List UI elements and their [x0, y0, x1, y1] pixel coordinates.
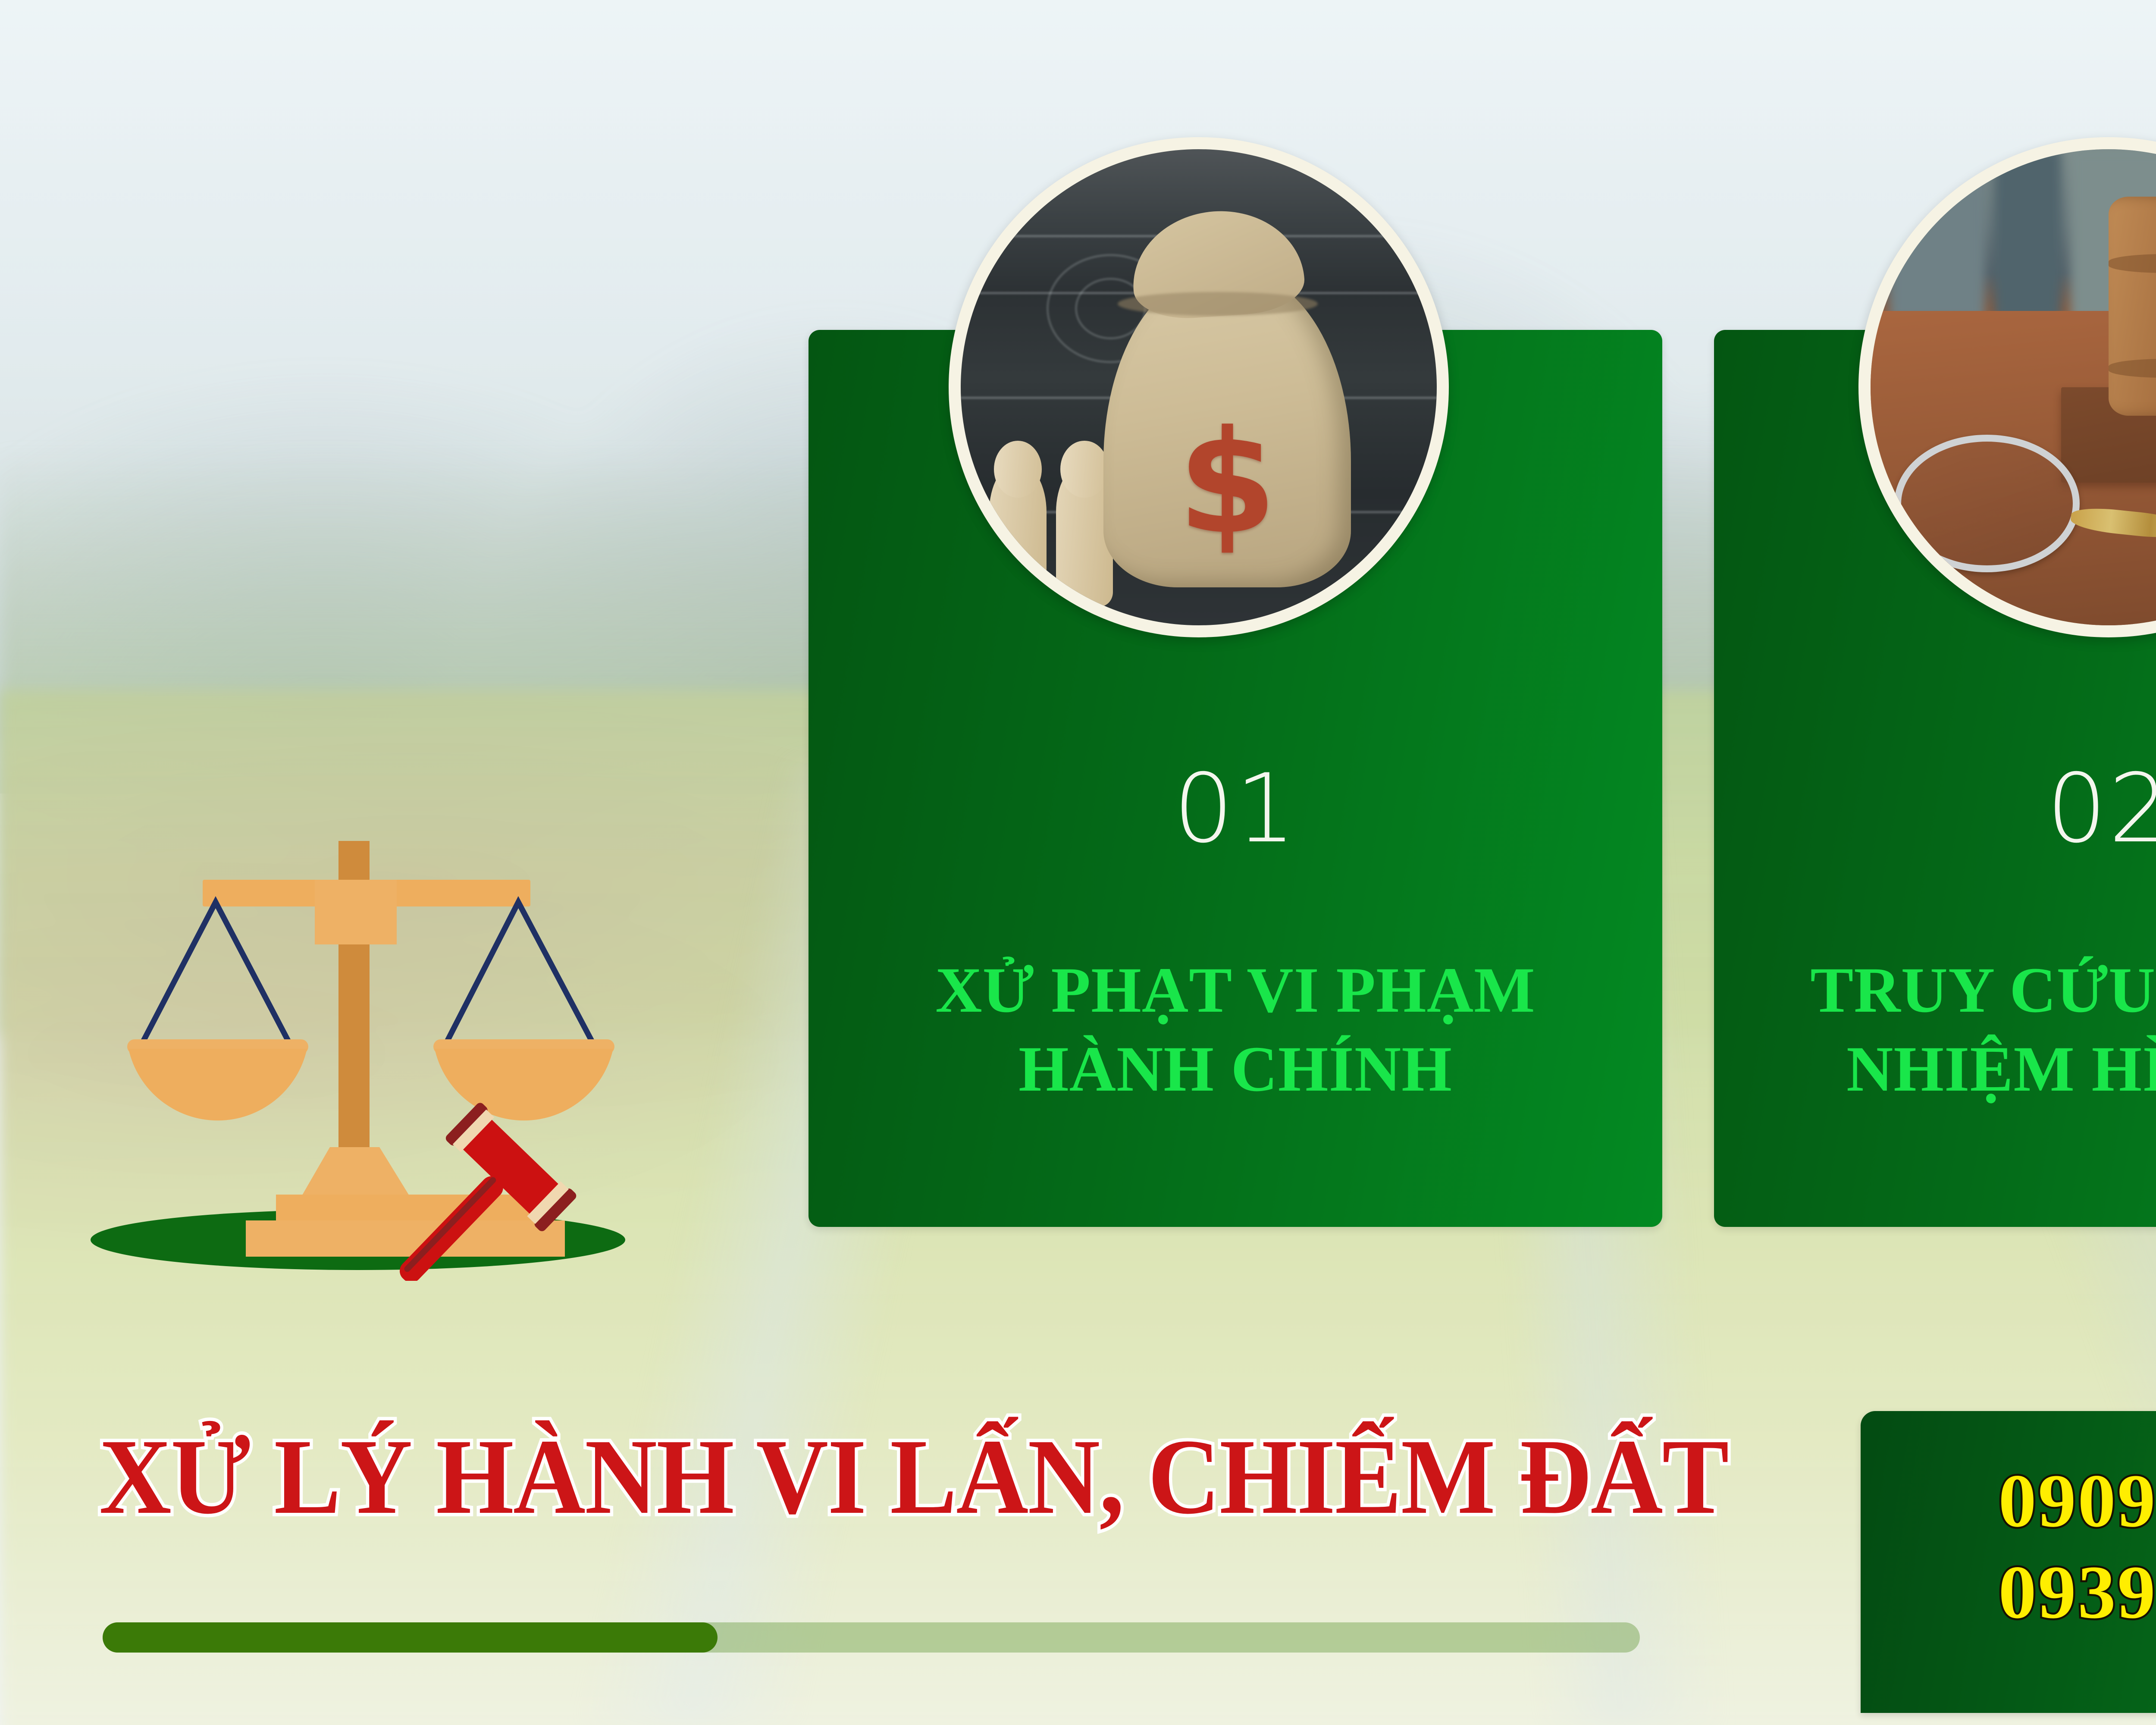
background-blur-column [1890, 149, 1985, 320]
money-bag-photo-circle: $ [949, 137, 1449, 637]
card-number-02: 02 [1714, 761, 2156, 856]
infographic-canvas: 01 XỬ PHẠT VI PHẠM HÀNH CHÍNH 02 TRUY CỨ… [0, 0, 2156, 1725]
card-title-02-line1: TRUY CỨU TRÁCH [1761, 951, 2156, 1030]
handcuff-ring-left [1894, 435, 2079, 572]
money-bag-scene: $ [961, 149, 1437, 625]
page-title: XỬ LÝ HÀNH VI LẤN, CHIẾM ĐẤT [99, 1423, 1583, 1531]
card-title-02: TRUY CỨU TRÁCH NHIỆM HÌNH SỰ [1761, 951, 2156, 1109]
wooden-figure-head [1060, 441, 1108, 498]
scale-pan-left [128, 1049, 307, 1120]
card-title-01: XỬ PHẠT VI PHẠM HÀNH CHÍNH [860, 951, 1611, 1109]
dollar-sign-icon: $ [1103, 411, 1351, 554]
money-bag-body: $ [1103, 273, 1351, 587]
scale-beam-boss [315, 880, 397, 944]
scale-strings-left [139, 902, 292, 1049]
scale-base-lower [246, 1220, 565, 1257]
phone-number-secondary[interactable]: 0939 858 898 [1999, 1555, 2156, 1631]
scale-strings-right [443, 902, 596, 1049]
card-title-01-line1: XỬ PHẠT VI PHẠM [860, 951, 1611, 1030]
phone-number-primary[interactable]: 0909 642 658 [1999, 1463, 2156, 1539]
gavel-handcuffs-photo-circle [1858, 137, 2156, 637]
gavel-handcuffs-photo-inner [1871, 149, 2156, 625]
wooden-figure [989, 464, 1046, 606]
money-bag-photo-inner: $ [961, 149, 1437, 625]
progress-bar-track[interactable] [103, 1622, 1640, 1653]
card-title-01-line2: HÀNH CHÍNH [860, 1030, 1611, 1109]
scale-pan-right [435, 1049, 613, 1120]
wooden-figure-head [994, 441, 1042, 498]
gavel-head [2109, 197, 2156, 416]
gavel-handcuffs-scene [1871, 149, 2156, 625]
money-bag-tie [1118, 292, 1318, 316]
scales-of-justice-icon [73, 793, 651, 1281]
progress-bar-fill [103, 1622, 718, 1653]
card-number-01: 01 [808, 761, 1662, 856]
background-blur-column [1994, 149, 2061, 320]
contact-phone-box[interactable]: 0909 642 658 0939 858 898 [1861, 1411, 2156, 1713]
card-title-02-line2: NHIỆM HÌNH SỰ [1761, 1030, 2156, 1109]
